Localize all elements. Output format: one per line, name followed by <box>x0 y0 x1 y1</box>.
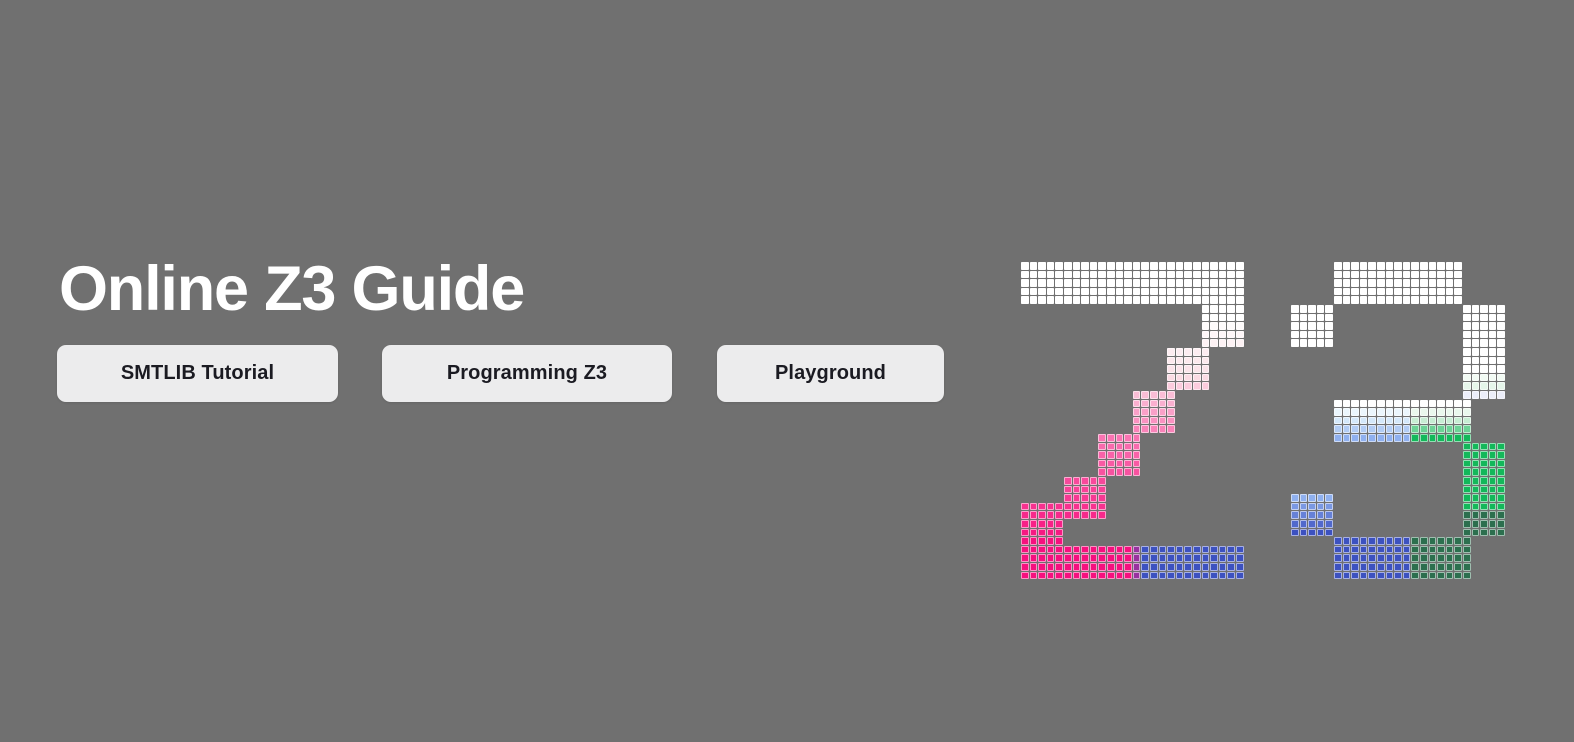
logo-pixel <box>1141 288 1149 296</box>
logo-pixel <box>1227 554 1235 562</box>
playground-button[interactable]: Playground <box>717 345 944 402</box>
logo-pixel <box>1368 554 1376 562</box>
logo-pixel <box>1202 271 1210 279</box>
logo-pixel <box>1167 382 1175 390</box>
logo-pixel <box>1472 520 1480 528</box>
logo-pixel <box>1150 391 1158 399</box>
logo-pixel <box>1116 451 1124 459</box>
logo-pixel <box>1463 408 1471 416</box>
logo-pixel <box>1394 417 1402 425</box>
logo-pixel <box>1454 563 1462 571</box>
logo-pixel <box>1386 400 1394 408</box>
logo-pixel <box>1429 572 1437 580</box>
logo-pixel <box>1386 546 1394 554</box>
logo-pixel <box>1403 279 1411 287</box>
logo-pixel <box>1090 477 1098 485</box>
logo-pixel <box>1480 529 1488 537</box>
logo-pixel <box>1055 572 1063 580</box>
logo-pixel <box>1055 546 1063 554</box>
logo-pixel <box>1047 546 1055 554</box>
logo-pixel <box>1150 400 1158 408</box>
logo-pixel <box>1047 511 1055 519</box>
logo-pixel <box>1184 382 1192 390</box>
logo-pixel <box>1047 279 1055 287</box>
logo-pixel <box>1047 271 1055 279</box>
logo-pixel <box>1236 279 1244 287</box>
logo-pixel <box>1098 494 1106 502</box>
logo-pixel <box>1064 271 1072 279</box>
logo-pixel <box>1403 288 1411 296</box>
logo-pixel <box>1064 477 1072 485</box>
logo-pixel <box>1210 563 1218 571</box>
logo-pixel <box>1090 271 1098 279</box>
logo-pixel <box>1167 417 1175 425</box>
logo-pixel <box>1497 503 1505 511</box>
logo-pixel <box>1150 563 1158 571</box>
logo-pixel <box>1081 494 1089 502</box>
logo-pixel <box>1420 400 1428 408</box>
logo-pixel <box>1081 288 1089 296</box>
hero-content: Online Z3 Guide SMTLIB Tutorial Programm… <box>57 258 944 402</box>
logo-pixel <box>1429 271 1437 279</box>
logo-pixel <box>1124 279 1132 287</box>
logo-pixel <box>1472 365 1480 373</box>
logo-pixel <box>1480 305 1488 313</box>
logo-pixel <box>1463 563 1471 571</box>
logo-pixel <box>1098 486 1106 494</box>
logo-pixel <box>1021 503 1029 511</box>
logo-pixel <box>1386 279 1394 287</box>
logo-pixel <box>1454 537 1462 545</box>
logo-pixel <box>1081 486 1089 494</box>
logo-pixel <box>1343 434 1351 442</box>
logo-pixel <box>1021 529 1029 537</box>
logo-pixel <box>1411 572 1419 580</box>
logo-pixel <box>1021 537 1029 545</box>
logo-pixel <box>1411 563 1419 571</box>
logo-pixel <box>1472 529 1480 537</box>
logo-pixel <box>1064 546 1072 554</box>
logo-pixel <box>1141 400 1149 408</box>
logo-pixel <box>1480 451 1488 459</box>
logo-pixel <box>1317 529 1325 537</box>
logo-pixel <box>1497 374 1505 382</box>
logo-pixel <box>1030 546 1038 554</box>
logo-pixel <box>1463 314 1471 322</box>
logo-pixel <box>1073 554 1081 562</box>
logo-pixel <box>1159 572 1167 580</box>
logo-pixel <box>1030 563 1038 571</box>
logo-pixel <box>1300 339 1308 347</box>
logo-pixel <box>1038 279 1046 287</box>
logo-pixel <box>1497 468 1505 476</box>
logo-pixel <box>1038 537 1046 545</box>
logo-pixel <box>1167 425 1175 433</box>
logo-pixel <box>1116 572 1124 580</box>
logo-pixel <box>1429 425 1437 433</box>
logo-pixel <box>1210 546 1218 554</box>
logo-pixel <box>1377 563 1385 571</box>
logo-pixel <box>1411 425 1419 433</box>
logo-pixel <box>1133 460 1141 468</box>
logo-pixel <box>1227 279 1235 287</box>
logo-pixel <box>1081 546 1089 554</box>
logo-pixel <box>1236 331 1244 339</box>
logo-pixel <box>1429 554 1437 562</box>
logo-pixel <box>1480 314 1488 322</box>
programming-z3-button[interactable]: Programming Z3 <box>382 345 672 402</box>
logo-pixel <box>1317 331 1325 339</box>
logo-pixel <box>1210 572 1218 580</box>
logo-pixel <box>1291 503 1299 511</box>
logo-pixel <box>1184 348 1192 356</box>
logo-pixel <box>1463 331 1471 339</box>
logo-pixel <box>1411 546 1419 554</box>
logo-pixel <box>1210 262 1218 270</box>
logo-pixel <box>1073 477 1081 485</box>
logo-pixel <box>1030 288 1038 296</box>
logo-pixel <box>1463 339 1471 347</box>
logo-pixel <box>1300 520 1308 528</box>
logo-pixel <box>1368 296 1376 304</box>
logo-pixel <box>1334 288 1342 296</box>
logo-pixel <box>1116 434 1124 442</box>
logo-pixel <box>1184 563 1192 571</box>
logo-pixel <box>1176 546 1184 554</box>
logo-pixel <box>1159 425 1167 433</box>
logo-pixel <box>1227 563 1235 571</box>
logo-pixel <box>1090 554 1098 562</box>
logo-pixel <box>1176 262 1184 270</box>
logo-pixel <box>1081 279 1089 287</box>
logo-pixel <box>1403 408 1411 416</box>
logo-pixel <box>1167 348 1175 356</box>
logo-pixel <box>1236 322 1244 330</box>
logo-pixel <box>1420 563 1428 571</box>
logo-pixel <box>1081 271 1089 279</box>
logo-pixel <box>1193 279 1201 287</box>
logo-pixel <box>1446 408 1454 416</box>
logo-pixel <box>1420 537 1428 545</box>
logo-pixel <box>1437 417 1445 425</box>
logo-pixel <box>1308 305 1316 313</box>
logo-pixel <box>1176 348 1184 356</box>
logo-pixel <box>1394 425 1402 433</box>
logo-pixel <box>1300 511 1308 519</box>
logo-pixel <box>1081 572 1089 580</box>
logo-pixel <box>1343 408 1351 416</box>
logo-pixel <box>1176 572 1184 580</box>
logo-pixel <box>1141 563 1149 571</box>
logo-pixel <box>1394 296 1402 304</box>
logo-pixel <box>1463 503 1471 511</box>
logo-pixel <box>1202 348 1210 356</box>
logo-pixel <box>1446 271 1454 279</box>
logo-pixel <box>1420 572 1428 580</box>
logo-pixel <box>1463 443 1471 451</box>
logo-pixel <box>1437 572 1445 580</box>
logo-pixel <box>1193 357 1201 365</box>
logo-pixel <box>1098 460 1106 468</box>
logo-pixel <box>1463 365 1471 373</box>
logo-pixel <box>1446 417 1454 425</box>
logo-pixel <box>1463 434 1471 442</box>
logo-pixel <box>1227 572 1235 580</box>
logo-pixel <box>1291 322 1299 330</box>
logo-pixel <box>1124 434 1132 442</box>
logo-pixel <box>1420 279 1428 287</box>
logo-pixel <box>1489 305 1497 313</box>
logo-pixel <box>1098 434 1106 442</box>
logo-pixel <box>1343 537 1351 545</box>
logo-pixel <box>1124 460 1132 468</box>
logo-pixel <box>1429 434 1437 442</box>
logo-pixel <box>1343 296 1351 304</box>
logo-pixel <box>1064 262 1072 270</box>
logo-pixel <box>1437 546 1445 554</box>
logo-pixel <box>1064 572 1072 580</box>
logo-pixel <box>1150 296 1158 304</box>
logo-pixel <box>1377 271 1385 279</box>
logo-pixel <box>1334 425 1342 433</box>
logo-pixel <box>1420 554 1428 562</box>
logo-pixel <box>1437 434 1445 442</box>
logo-pixel <box>1038 503 1046 511</box>
logo-pixel <box>1219 331 1227 339</box>
logo-pixel <box>1360 271 1368 279</box>
logo-pixel <box>1437 288 1445 296</box>
logo-pixel <box>1107 296 1115 304</box>
logo-pixel <box>1107 271 1115 279</box>
logo-pixel <box>1150 425 1158 433</box>
logo-pixel <box>1073 546 1081 554</box>
logo-pixel <box>1184 279 1192 287</box>
logo-pixel <box>1429 417 1437 425</box>
logo-pixel <box>1446 563 1454 571</box>
logo-pixel <box>1489 451 1497 459</box>
logo-pixel <box>1489 494 1497 502</box>
logo-pixel <box>1210 322 1218 330</box>
logo-pixel <box>1403 546 1411 554</box>
logo-pixel <box>1480 339 1488 347</box>
logo-pixel <box>1064 503 1072 511</box>
logo-pixel <box>1394 271 1402 279</box>
logo-pixel <box>1291 314 1299 322</box>
logo-pixel <box>1081 511 1089 519</box>
logo-pixel <box>1454 417 1462 425</box>
logo-pixel <box>1210 305 1218 313</box>
logo-pixel <box>1021 262 1029 270</box>
logo-pixel <box>1227 322 1235 330</box>
logo-pixel <box>1489 348 1497 356</box>
logo-pixel <box>1437 271 1445 279</box>
logo-pixel <box>1446 425 1454 433</box>
logo-pixel <box>1360 563 1368 571</box>
logo-pixel <box>1227 314 1235 322</box>
logo-pixel <box>1073 296 1081 304</box>
logo-pixel <box>1420 296 1428 304</box>
logo-pixel <box>1098 468 1106 476</box>
logo-pixel <box>1480 391 1488 399</box>
logo-pixel <box>1202 563 1210 571</box>
logo-pixel <box>1308 339 1316 347</box>
logo-pixel <box>1038 271 1046 279</box>
logo-pixel <box>1437 408 1445 416</box>
logo-pixel <box>1184 572 1192 580</box>
logo-pixel <box>1167 554 1175 562</box>
logo-pixel <box>1038 288 1046 296</box>
logo-pixel <box>1193 546 1201 554</box>
logo-pixel <box>1116 443 1124 451</box>
logo-pixel <box>1334 537 1342 545</box>
logo-pixel <box>1446 288 1454 296</box>
logo-pixel <box>1394 572 1402 580</box>
logo-pixel <box>1021 511 1029 519</box>
logo-pixel <box>1325 322 1333 330</box>
logo-pixel <box>1368 417 1376 425</box>
logo-pixel <box>1210 331 1218 339</box>
logo-pixel <box>1386 425 1394 433</box>
logo-pixel <box>1291 520 1299 528</box>
logo-pixel <box>1038 572 1046 580</box>
logo-pixel <box>1021 296 1029 304</box>
logo-pixel <box>1343 554 1351 562</box>
logo-pixel <box>1463 494 1471 502</box>
logo-pixel <box>1021 279 1029 287</box>
logo-pixel <box>1489 529 1497 537</box>
logo-pixel <box>1429 408 1437 416</box>
logo-pixel <box>1472 391 1480 399</box>
logo-pixel <box>1150 408 1158 416</box>
logo-pixel <box>1403 400 1411 408</box>
logo-pixel <box>1159 400 1167 408</box>
logo-pixel <box>1150 554 1158 562</box>
logo-pixel <box>1219 314 1227 322</box>
logo-pixel <box>1047 572 1055 580</box>
logo-pixel <box>1472 468 1480 476</box>
logo-pixel <box>1351 554 1359 562</box>
logo-pixel <box>1489 382 1497 390</box>
logo-pixel <box>1454 546 1462 554</box>
logo-pixel <box>1360 408 1368 416</box>
logo-pixel <box>1351 572 1359 580</box>
logo-pixel <box>1021 271 1029 279</box>
logo-pixel <box>1472 486 1480 494</box>
smtlib-tutorial-button[interactable]: SMTLIB Tutorial <box>57 345 338 402</box>
logo-pixel <box>1055 537 1063 545</box>
logo-pixel <box>1480 443 1488 451</box>
logo-pixel <box>1107 262 1115 270</box>
logo-pixel <box>1133 434 1141 442</box>
logo-pixel <box>1386 434 1394 442</box>
logo-pixel <box>1210 296 1218 304</box>
logo-pixel <box>1377 279 1385 287</box>
logo-pixel <box>1193 365 1201 373</box>
logo-pixel <box>1300 331 1308 339</box>
logo-pixel <box>1308 322 1316 330</box>
logo-pixel <box>1343 563 1351 571</box>
logo-pixel <box>1193 288 1201 296</box>
logo-pixel <box>1403 425 1411 433</box>
logo-pixel <box>1472 494 1480 502</box>
logo-pixel <box>1351 288 1359 296</box>
logo-pixel <box>1403 417 1411 425</box>
logo-pixel <box>1343 546 1351 554</box>
logo-pixel <box>1038 262 1046 270</box>
logo-pixel <box>1463 417 1471 425</box>
logo-pixel <box>1090 486 1098 494</box>
logo-pixel <box>1073 288 1081 296</box>
logo-pixel <box>1202 262 1210 270</box>
logo-pixel <box>1219 305 1227 313</box>
logo-pixel <box>1291 511 1299 519</box>
logo-pixel <box>1325 503 1333 511</box>
logo-pixel <box>1420 417 1428 425</box>
logo-pixel <box>1167 288 1175 296</box>
logo-pixel <box>1291 331 1299 339</box>
logo-pixel <box>1386 288 1394 296</box>
logo-pixel <box>1334 434 1342 442</box>
logo-pixel <box>1073 486 1081 494</box>
logo-pixel <box>1317 520 1325 528</box>
logo-pixel <box>1403 554 1411 562</box>
logo-pixel <box>1038 529 1046 537</box>
logo-pixel <box>1351 296 1359 304</box>
logo-pixel <box>1073 563 1081 571</box>
logo-pixel <box>1334 417 1342 425</box>
logo-pixel <box>1480 374 1488 382</box>
logo-pixel <box>1394 400 1402 408</box>
logo-pixel <box>1334 554 1342 562</box>
logo-pixel <box>1098 546 1106 554</box>
logo-pixel <box>1202 279 1210 287</box>
logo-pixel <box>1193 348 1201 356</box>
logo-pixel <box>1167 279 1175 287</box>
logo-pixel <box>1386 296 1394 304</box>
logo-pixel <box>1193 563 1201 571</box>
logo-pixel <box>1317 314 1325 322</box>
logo-pixel <box>1325 529 1333 537</box>
logo-pixel <box>1210 314 1218 322</box>
logo-pixel <box>1429 262 1437 270</box>
logo-pixel <box>1184 357 1192 365</box>
logo-pixel <box>1411 262 1419 270</box>
logo-pixel <box>1098 271 1106 279</box>
logo-pixel <box>1167 357 1175 365</box>
logo-pixel <box>1411 408 1419 416</box>
logo-pixel <box>1291 339 1299 347</box>
logo-pixel <box>1386 572 1394 580</box>
logo-pixel <box>1133 391 1141 399</box>
logo-pixel <box>1446 434 1454 442</box>
logo-pixel <box>1300 305 1308 313</box>
logo-pixel <box>1437 279 1445 287</box>
logo-pixel <box>1236 546 1244 554</box>
logo-pixel <box>1090 494 1098 502</box>
logo-pixel <box>1090 288 1098 296</box>
logo-pixel <box>1107 460 1115 468</box>
logo-pixel <box>1411 288 1419 296</box>
logo-pixel <box>1325 520 1333 528</box>
logo-pixel <box>1236 262 1244 270</box>
logo-pixel <box>1394 279 1402 287</box>
logo-pixel <box>1090 262 1098 270</box>
logo-pixel <box>1184 554 1192 562</box>
logo-pixel <box>1047 554 1055 562</box>
logo-pixel <box>1411 400 1419 408</box>
logo-pixel <box>1107 563 1115 571</box>
logo-pixel <box>1334 408 1342 416</box>
